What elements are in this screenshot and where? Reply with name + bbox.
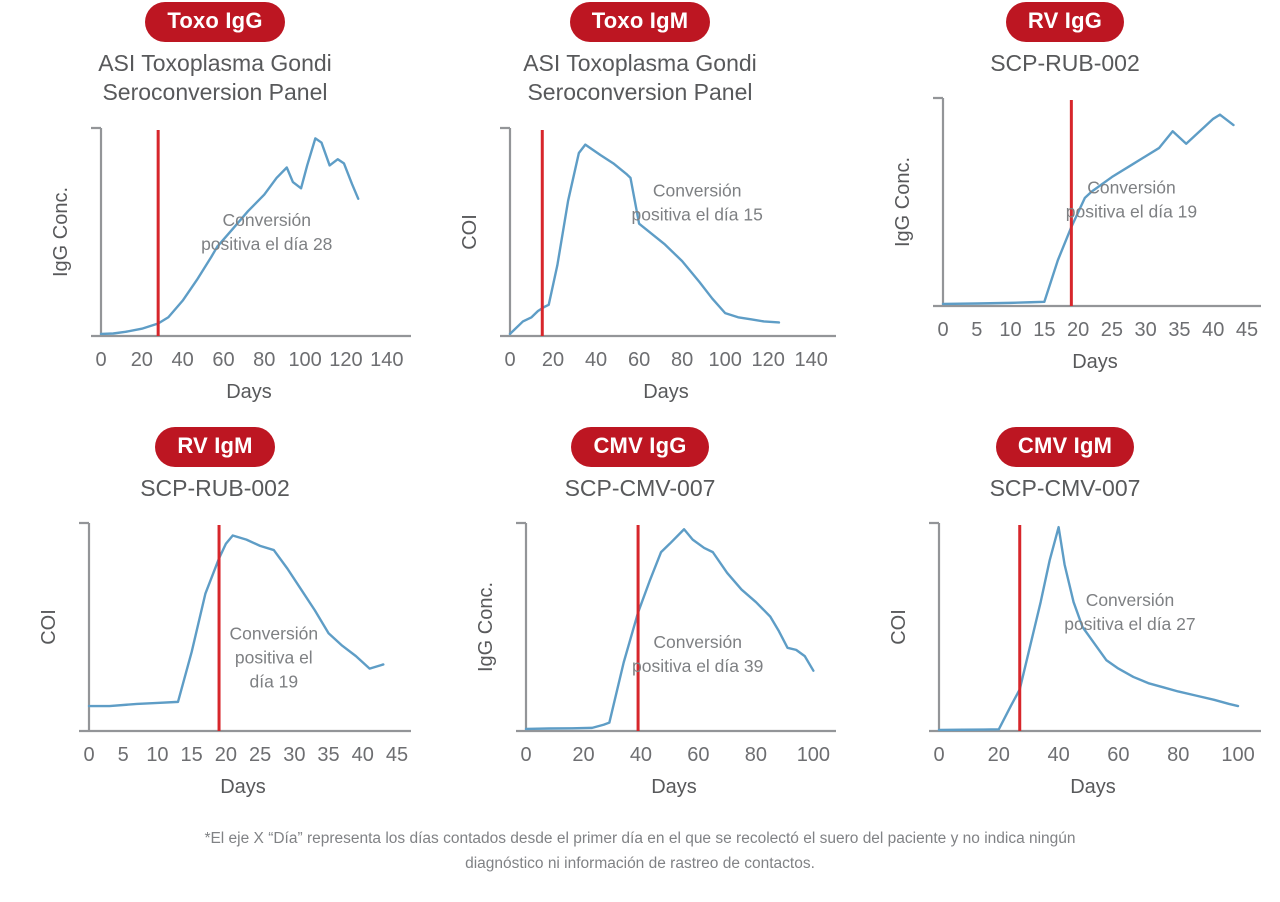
x-axis-title: Days	[226, 381, 272, 403]
chart-grid: Toxo IgG ASI Toxoplasma Gondi Seroconver…	[0, 0, 1280, 822]
subtitle-toxo-igm: ASI Toxoplasma Gondi Seroconversion Pane…	[523, 49, 757, 108]
x-tick-label: 40	[1202, 319, 1224, 341]
x-tick-label: 45	[1236, 319, 1258, 341]
y-axis	[500, 128, 510, 336]
subtitle-cmv-igm: SCP-CMV-007	[990, 474, 1141, 503]
panel-toxo-igg: Toxo IgG ASI Toxoplasma Gondi Seroconver…	[0, 0, 430, 425]
panel-cmv-igm: CMV IgM SCP-CMV-007 020406080100COIDaysC…	[850, 425, 1280, 822]
chart-svg-rv-igm: 051015202530354045COIDaysConversiónposit…	[15, 509, 415, 809]
x-tick-label: 15	[181, 744, 203, 766]
panel-rv-igg: RV IgG SCP-RUB-002 051015202530354045IgG…	[850, 0, 1280, 425]
x-axis-title: Days	[220, 776, 266, 798]
x-tick-label: 60	[212, 349, 234, 371]
y-axis	[933, 98, 943, 306]
data-line-rv-igm	[89, 536, 383, 707]
data-line-toxo-igm	[510, 145, 779, 334]
badge-rv-igm: RV IgM	[155, 427, 274, 467]
x-tick-label: 40	[172, 349, 194, 371]
x-tick-label: 120	[329, 349, 362, 371]
plot-cmv-igg: 020406080100IgG Conc.DaysConversiónposit…	[440, 509, 840, 809]
badge-toxo-igm: Toxo IgM	[570, 2, 711, 42]
conversion-note-line: Conversión	[653, 632, 742, 652]
x-axis-title: Days	[1070, 776, 1116, 798]
conversion-note-line: positiva el día 19	[1066, 202, 1197, 222]
conversion-note-line: Conversión	[230, 624, 319, 644]
subtitle-rv-igg: SCP-RUB-002	[990, 49, 1140, 78]
y-axis	[79, 523, 89, 731]
x-axis-title: Days	[1072, 351, 1118, 373]
x-tick-label: 10	[999, 319, 1021, 341]
badge-cmv-igm: CMV IgM	[996, 427, 1134, 467]
x-tick-label: 0	[520, 744, 531, 766]
x-tick-label: 80	[745, 744, 767, 766]
x-tick-label: 60	[1107, 744, 1129, 766]
x-tick-label: 140	[370, 349, 403, 371]
x-tick-label: 25	[1101, 319, 1123, 341]
x-tick-label: 30	[283, 744, 305, 766]
x-tick-label: 0	[937, 319, 948, 341]
data-line-cmv-igg	[526, 530, 813, 730]
x-tick-label: 0	[95, 349, 106, 371]
y-axis-label: IgG Conc.	[892, 157, 914, 247]
x-tick-label: 60	[628, 349, 650, 371]
conversion-note-line: Conversión	[653, 181, 742, 201]
y-axis	[929, 523, 939, 731]
plot-toxo-igm: 020406080100120140COIDaysConversiónposit…	[440, 114, 840, 414]
x-tick-label: 80	[671, 349, 693, 371]
chart-svg-toxo-igm: 020406080100120140COIDaysConversiónposit…	[440, 114, 840, 414]
x-tick-label: 80	[1167, 744, 1189, 766]
conversion-note-line: Conversión	[1086, 591, 1175, 611]
chart-svg-toxo-igg: 020406080100120140IgG Conc.DaysConversió…	[15, 114, 415, 414]
y-axis-label: COI	[38, 610, 60, 646]
footnote-line-1: *El eje X “Día” representa los días cont…	[204, 830, 1075, 847]
y-axis	[91, 128, 101, 336]
chart-svg-rv-igg: 051015202530354045IgG Conc.DaysConversió…	[865, 84, 1265, 384]
conversion-note-line: positiva el día 28	[201, 234, 332, 254]
x-axis-title: Days	[651, 776, 697, 798]
x-tick-label: 100	[708, 349, 741, 371]
x-tick-label: 100	[797, 744, 830, 766]
x-tick-label: 40	[585, 349, 607, 371]
x-tick-label: 45	[386, 744, 408, 766]
conversion-note-line: Conversión	[1087, 178, 1176, 198]
x-tick-label: 15	[1033, 319, 1055, 341]
footnote: *El eje X “Día” representa los días cont…	[0, 826, 1280, 876]
x-tick-label: 35	[317, 744, 339, 766]
conversion-note-line: positiva el día 15	[632, 205, 763, 225]
x-tick-label: 0	[504, 349, 515, 371]
conversion-note-line: positiva el día 39	[632, 656, 763, 676]
conversion-note-line: positiva el día 27	[1064, 615, 1195, 635]
chart-svg-cmv-igg: 020406080100IgG Conc.DaysConversiónposit…	[440, 509, 840, 809]
badge-cmv-igg: CMV IgG	[571, 427, 708, 467]
badge-toxo-igg: Toxo IgG	[145, 2, 284, 42]
conversion-note-line: positiva el	[235, 648, 313, 668]
x-tick-label: 35	[1168, 319, 1190, 341]
panel-toxo-igm: Toxo IgM ASI Toxoplasma Gondi Seroconver…	[430, 0, 850, 425]
x-tick-label: 20	[572, 744, 594, 766]
x-tick-label: 10	[146, 744, 168, 766]
x-tick-label: 25	[249, 744, 271, 766]
x-tick-label: 80	[253, 349, 275, 371]
x-tick-label: 100	[1221, 744, 1254, 766]
x-tick-label: 20	[131, 349, 153, 371]
x-tick-label: 30	[1135, 319, 1157, 341]
badge-rv-igg: RV IgG	[1006, 2, 1124, 42]
plot-rv-igg: 051015202530354045IgG Conc.DaysConversió…	[865, 84, 1265, 384]
x-axis-title: Days	[643, 381, 689, 403]
x-tick-label: 120	[752, 349, 785, 371]
x-tick-label: 140	[795, 349, 828, 371]
y-axis	[516, 523, 526, 731]
conversion-note-line: día 19	[249, 672, 298, 692]
panel-cmv-igg: CMV IgG SCP-CMV-007 020406080100IgG Conc…	[430, 425, 850, 822]
seroconversion-panel-figure: Toxo IgG ASI Toxoplasma Gondi Seroconver…	[0, 0, 1280, 902]
x-tick-label: 0	[83, 744, 94, 766]
footnote-line-2: diagnóstico ni información de rastreo de…	[8, 851, 1272, 876]
plot-toxo-igg: 020406080100120140IgG Conc.DaysConversió…	[15, 114, 415, 414]
subtitle-rv-igm: SCP-RUB-002	[140, 474, 290, 503]
x-tick-label: 40	[630, 744, 652, 766]
x-tick-label: 100	[288, 349, 321, 371]
plot-cmv-igm: 020406080100COIDaysConversiónpositiva el…	[865, 509, 1265, 809]
y-axis-label: COI	[888, 610, 910, 646]
panel-rv-igm: RV IgM SCP-RUB-002 051015202530354045COI…	[0, 425, 430, 822]
x-tick-label: 40	[352, 744, 374, 766]
x-tick-label: 20	[1067, 319, 1089, 341]
x-tick-label: 40	[1047, 744, 1069, 766]
y-axis-label: IgG Conc.	[475, 582, 497, 672]
conversion-note-line: Conversión	[222, 210, 311, 230]
x-tick-label: 20	[988, 744, 1010, 766]
x-tick-label: 5	[971, 319, 982, 341]
y-axis-label: IgG Conc.	[50, 187, 72, 277]
x-tick-label: 20	[542, 349, 564, 371]
y-axis-label: COI	[459, 214, 481, 250]
subtitle-toxo-igg: ASI Toxoplasma Gondi Seroconversion Pane…	[98, 49, 332, 108]
x-tick-label: 0	[933, 744, 944, 766]
subtitle-cmv-igg: SCP-CMV-007	[565, 474, 716, 503]
plot-rv-igm: 051015202530354045COIDaysConversiónposit…	[15, 509, 415, 809]
x-tick-label: 5	[118, 744, 129, 766]
x-tick-label: 20	[215, 744, 237, 766]
x-tick-label: 60	[687, 744, 709, 766]
chart-svg-cmv-igm: 020406080100COIDaysConversiónpositiva el…	[865, 509, 1265, 809]
